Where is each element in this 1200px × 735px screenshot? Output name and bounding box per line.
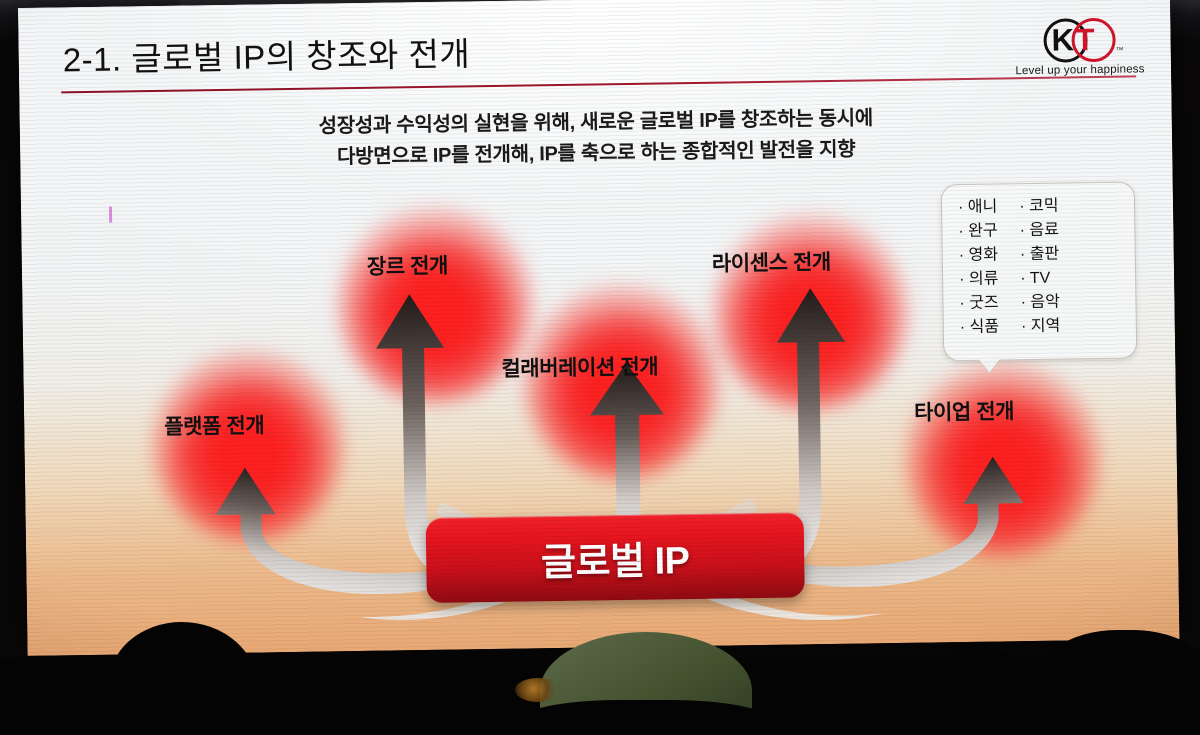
legend-bubble-tail-icon [978, 358, 1000, 372]
kt-logo-mark: K T ™ [1029, 18, 1130, 63]
legend-item: · 음악 [1021, 293, 1060, 313]
audience-head-5 [520, 700, 770, 735]
photo-of-projected-slide: 2-1. 글로벌 IP의 창조와 전개 K T ™ Level up your … [0, 0, 1200, 735]
projection-screen: 2-1. 글로벌 IP의 창조와 전개 K T ™ Level up your … [18, 0, 1179, 656]
legend-item: · 식품 [960, 317, 999, 337]
legend-item: · TV [1020, 269, 1059, 289]
slide-subtitle: 성장성과 수익성의 실현을 위해, 새로운 글로벌 IP를 창조하는 동시에 다… [20, 99, 1173, 178]
legend-item: · 완구 [958, 221, 997, 241]
legend-item: · 출판 [1020, 245, 1059, 265]
legend-item: · 지역 [1021, 317, 1060, 337]
legend-item: · 의류 [959, 269, 998, 289]
trademark-icon: ™ [1116, 46, 1124, 55]
kt-letter-k: K [1051, 22, 1074, 58]
audience-head-8 [1030, 630, 1200, 735]
kt-letter-t: T [1075, 22, 1094, 58]
kt-tagline: Level up your happiness [1009, 63, 1151, 77]
node-label-genre: 장르 전개 [367, 250, 449, 281]
legend-item: · 코믹 [1019, 197, 1058, 217]
category-legend-bubble: · 애니 · 완구 · 영화 · 의류 · 굿즈 · 식품 · 코믹 · 음료 … [941, 181, 1138, 361]
node-label-platform: 플랫폼 전개 [164, 409, 264, 440]
legend-item: · 굿즈 [959, 293, 998, 313]
legend-item: · 음료 [1019, 221, 1058, 241]
legend-column-left: · 애니 · 완구 · 영화 · 의류 · 굿즈 · 식품 [958, 197, 999, 337]
page-title: 2-1. 글로벌 IP의 창조와 전개 [62, 27, 470, 81]
kt-logo: K T ™ Level up your happiness [1008, 17, 1151, 81]
central-concept-box[interactable]: 글로벌 IP [426, 512, 805, 603]
node-label-tieup: 타이업 전개 [914, 395, 1014, 426]
legend-column-right: · 코믹 · 음료 · 출판 · TV · 음악 · 지역 [1019, 197, 1060, 337]
node-label-license: 라이센스 전개 [712, 246, 831, 278]
presentation-slide: 2-1. 글로벌 IP의 창조와 전개 K T ™ Level up your … [18, 0, 1179, 656]
camera-lens-glint [515, 678, 561, 702]
arrow-to-tieup [773, 448, 1065, 597]
projector-artifact-mark [109, 207, 112, 223]
node-label-collaboration: 컬래버레이션 전개 [501, 351, 658, 383]
legend-grid: · 애니 · 완구 · 영화 · 의류 · 굿즈 · 식품 · 코믹 · 음료 … [942, 182, 1136, 337]
legend-item: · 영화 [959, 245, 998, 265]
legend-item: · 애니 [958, 197, 997, 217]
central-concept-label: 글로벌 IP [426, 512, 805, 603]
